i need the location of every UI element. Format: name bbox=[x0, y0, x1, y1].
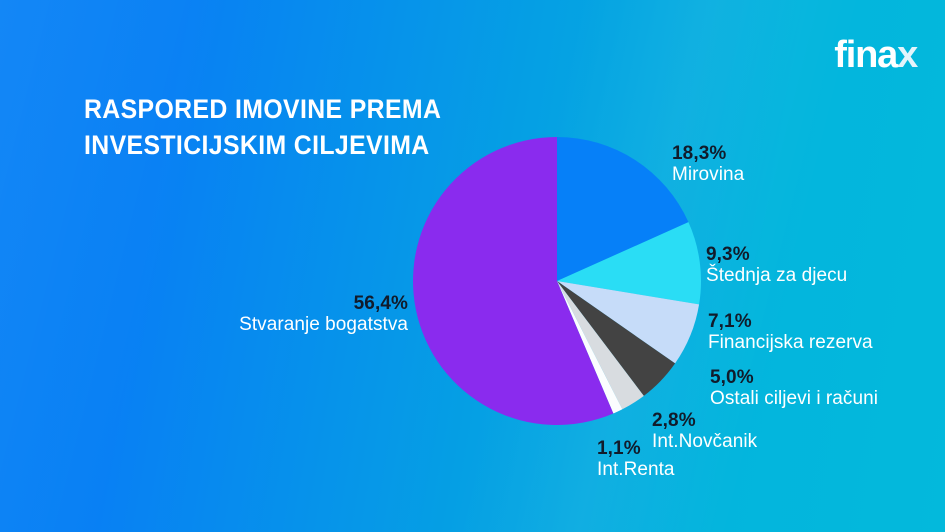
callout-stednja-za-djecu: 9,3% Štednja za djecu bbox=[706, 245, 847, 287]
callout-stvaranje-bogatstva: 56,4% Stvaranje bogatstva bbox=[239, 294, 408, 336]
callout-rezerva-label: Financijska rezerva bbox=[708, 332, 873, 354]
callout-mirovina-label: Mirovina bbox=[672, 164, 744, 186]
callout-novcanik-percent: 2,8% bbox=[652, 411, 757, 431]
logo-text-accent: x bbox=[897, 34, 917, 76]
infographic-canvas: finax RASPORED IMOVINE PREMA INVESTICIJS… bbox=[0, 0, 945, 532]
callout-stednja-percent: 9,3% bbox=[706, 245, 847, 265]
page-title-line-1: RASPORED IMOVINE PREMA bbox=[84, 92, 480, 128]
callout-rezerva-percent: 7,1% bbox=[708, 312, 873, 332]
callout-ostali-label: Ostali ciljevi i računi bbox=[710, 388, 878, 410]
callout-stednja-label: Štednja za djecu bbox=[706, 265, 847, 287]
finax-logo: finax bbox=[834, 36, 917, 74]
callout-renta-label: Int.Renta bbox=[597, 459, 675, 481]
callout-renta-percent: 1,1% bbox=[597, 439, 675, 459]
callout-financijska-rezerva: 7,1% Financijska rezerva bbox=[708, 312, 873, 354]
callout-mirovina-percent: 18,3% bbox=[672, 144, 744, 164]
callout-ostali-percent: 5,0% bbox=[710, 368, 878, 388]
callout-mirovina: 18,3% Mirovina bbox=[672, 144, 744, 186]
pie-chart bbox=[413, 137, 701, 425]
callout-bogatstvo-percent: 56,4% bbox=[239, 294, 408, 314]
pie-chart-svg bbox=[413, 137, 701, 425]
callout-ostali-ciljevi-i-racuni: 5,0% Ostali ciljevi i računi bbox=[710, 368, 878, 410]
callout-bogatstvo-label: Stvaranje bogatstva bbox=[239, 314, 408, 336]
logo-text-main: fina bbox=[834, 34, 897, 76]
callout-int-renta: 1,1% Int.Renta bbox=[597, 439, 675, 481]
